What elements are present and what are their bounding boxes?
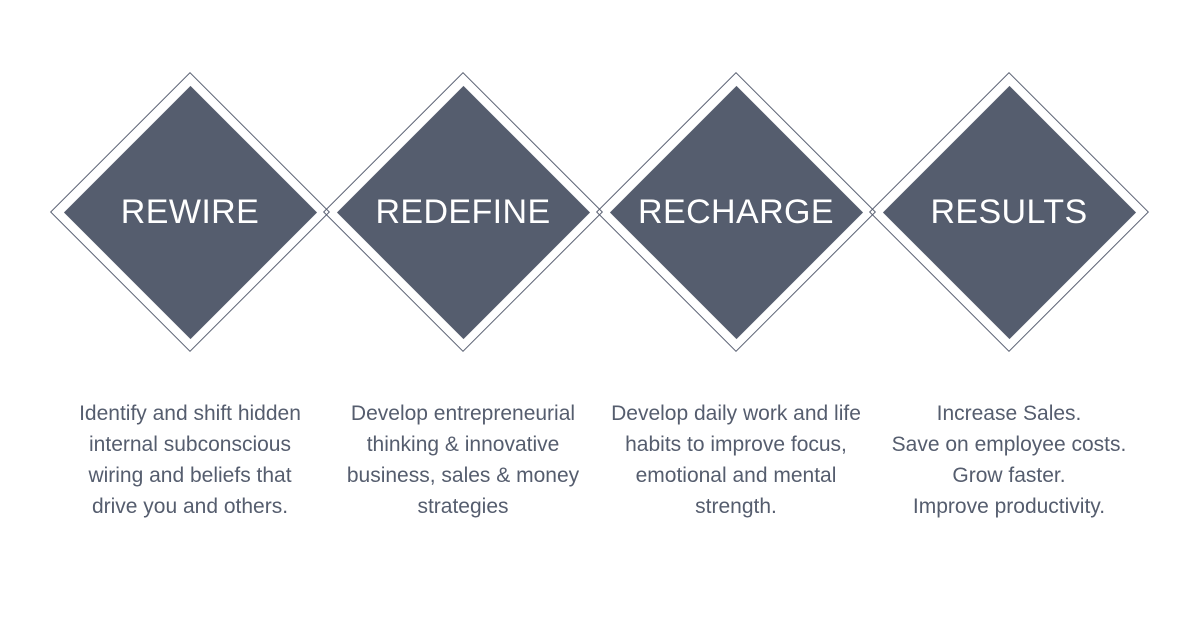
diamond-label-redefine: REDEFINE xyxy=(317,66,609,358)
caption-recharge: Develop daily work and life habits to im… xyxy=(611,398,861,522)
diamond-step-rewire[interactable]: REWIRE xyxy=(44,66,336,358)
diamond-label-rewire: REWIRE xyxy=(44,66,336,358)
caption-row: Identify and shift hidden internal subco… xyxy=(0,398,1200,568)
diamond-label-results: RESULTS xyxy=(863,66,1155,358)
diamond-step-results[interactable]: RESULTS xyxy=(863,66,1155,358)
caption-rewire: Identify and shift hidden internal subco… xyxy=(65,398,315,522)
diamond-step-recharge[interactable]: RECHARGE xyxy=(590,66,882,358)
caption-results: Increase Sales. Save on employee costs. … xyxy=(884,398,1134,522)
diamond-row: REWIRE REDEFINE RECHARGE RESULTS xyxy=(0,0,1200,430)
caption-redefine: Develop entrepreneurial thinking & innov… xyxy=(338,398,588,522)
diamond-process-infographic: REWIRE REDEFINE RECHARGE RESULTS Identif… xyxy=(0,0,1200,628)
diamond-step-redefine[interactable]: REDEFINE xyxy=(317,66,609,358)
diamond-label-recharge: RECHARGE xyxy=(590,66,882,358)
